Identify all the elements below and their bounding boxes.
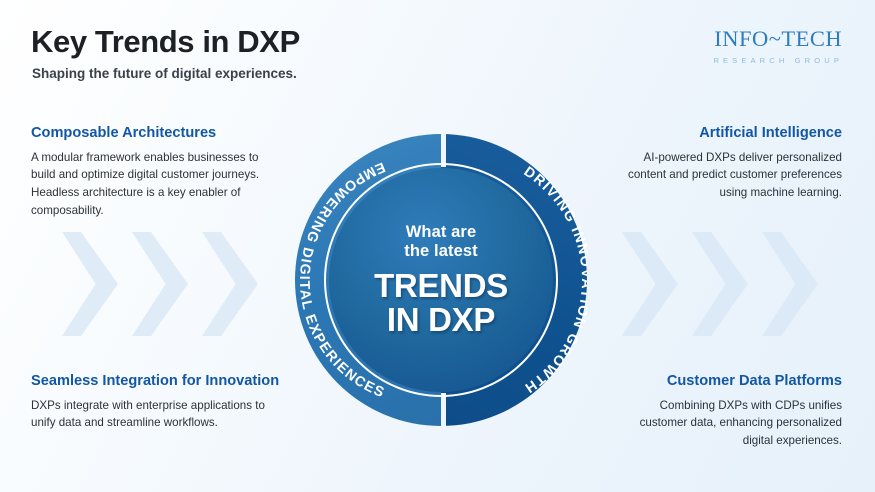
chevron-right-icon: [62, 232, 118, 336]
trend-block-seamless-integration: Seamless Integration for Innovation DXPs…: [31, 372, 283, 432]
trend-block-artificial-intelligence: Artificial Intelligence AI-powered DXPs …: [620, 124, 842, 202]
chevron-right-icon: [202, 232, 258, 336]
trend-body: A modular framework enables businesses t…: [31, 149, 283, 219]
trend-block-composable-architectures: Composable Architectures A modular frame…: [31, 124, 283, 219]
chevron-right-icon: [622, 232, 678, 336]
trend-block-customer-data-platforms: Customer Data Platforms Combining DXPs w…: [620, 372, 842, 450]
logo-wordmark: INFO~TECH: [713, 28, 843, 51]
chevron-right-icon: [132, 232, 188, 336]
trend-heading: Customer Data Platforms: [620, 372, 842, 391]
arc-label-right-text: DRIVING INNOVATION GROWTH: [521, 164, 587, 396]
arc-label-right: DRIVING INNOVATION GROWTH: [521, 164, 587, 396]
ring-labels: EMPOWERING DIGITAL EXPERIENCES DRIVING I…: [295, 134, 587, 426]
central-circle-diagram: EMPOWERING DIGITAL EXPERIENCES DRIVING I…: [295, 134, 587, 426]
arc-label-left-text: EMPOWERING DIGITAL EXPERIENCES: [296, 159, 387, 402]
trend-heading: Artificial Intelligence: [620, 124, 842, 143]
chevron-right-icon: [762, 232, 818, 336]
trend-body: DXPs integrate with enterprise applicati…: [31, 397, 283, 432]
trend-heading: Seamless Integration for Innovation: [31, 372, 283, 391]
chevron-arrows-left: [62, 232, 258, 336]
chevron-right-icon: [692, 232, 748, 336]
trend-body: Combining DXPs with CDPs unifies custome…: [620, 397, 842, 450]
page-title: Key Trends in DXP: [31, 24, 300, 60]
arc-label-left: EMPOWERING DIGITAL EXPERIENCES: [296, 159, 387, 402]
logo-tagline: RESEARCH GROUP: [713, 56, 843, 65]
page-subtitle: Shaping the future of digital experience…: [32, 66, 297, 81]
chevron-arrows-right: [622, 232, 818, 336]
trend-heading: Composable Architectures: [31, 124, 283, 143]
company-logo: INFO~TECH RESEARCH GROUP: [713, 28, 843, 65]
trend-body: AI-powered DXPs deliver personalized con…: [620, 149, 842, 202]
